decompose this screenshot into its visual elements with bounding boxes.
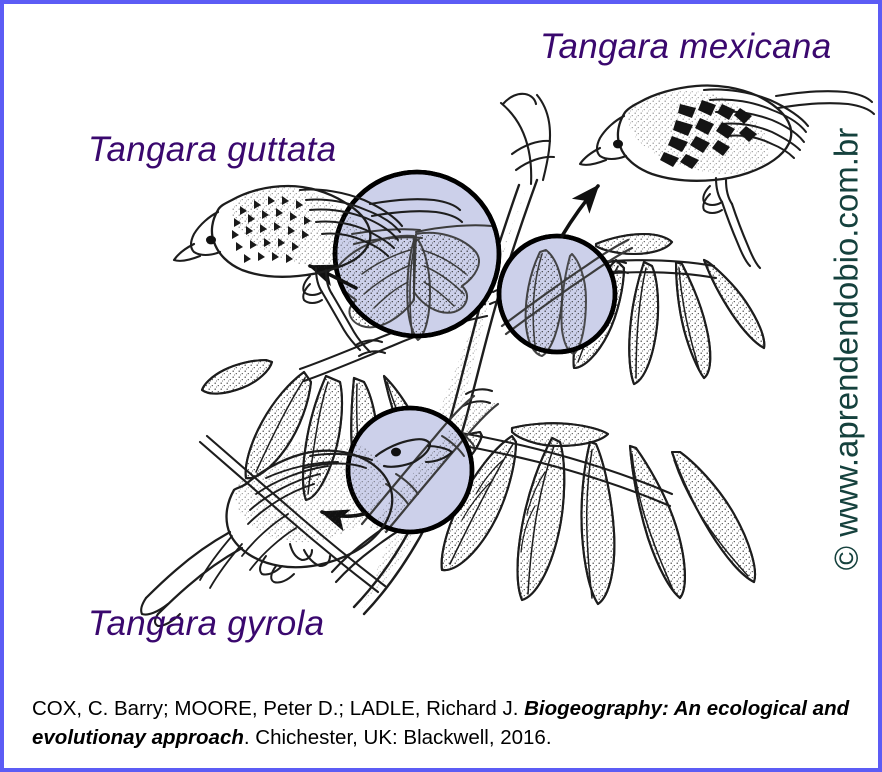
magnifier-leaf-surface: [499, 236, 632, 356]
species-label-tangara-gyrola: Tangara gyrola: [88, 606, 324, 641]
arrow-to-mexicana: [562, 186, 598, 236]
citation-publisher: . Chichester, UK: Blackwell, 2016.: [244, 726, 552, 749]
species-label-tangara-mexicana: Tangara mexicana: [540, 29, 831, 64]
figure-page: Tangara mexicana Tangara guttata Tangara…: [0, 0, 882, 772]
citation-authors: COX, C. Barry; MOORE, Peter D.; LADLE, R…: [32, 697, 524, 720]
species-label-tangara-guttata: Tangara guttata: [88, 132, 336, 167]
source-citation: COX, C. Barry; MOORE, Peter D.; LADLE, R…: [4, 686, 878, 768]
illustration-canvas: [4, 4, 878, 694]
